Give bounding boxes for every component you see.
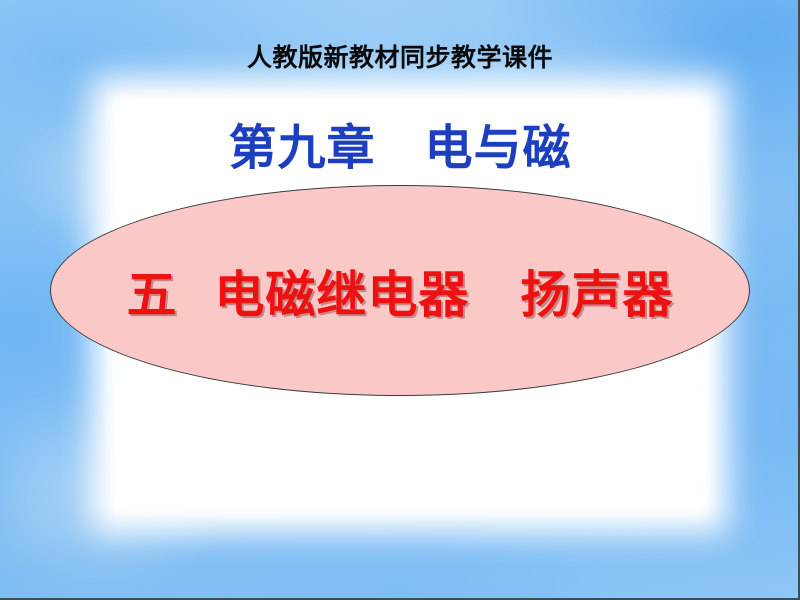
presentation-slide: 人教版新教材同步教学课件 第九章 电与磁 五 电磁继电器 扬声器	[0, 0, 800, 600]
slide-header-text: 人教版新教材同步教学课件	[0, 38, 800, 74]
slide-main-title: 五 电磁继电器 扬声器	[50, 185, 750, 396]
chapter-heading: 第九章 电与磁	[0, 108, 800, 178]
